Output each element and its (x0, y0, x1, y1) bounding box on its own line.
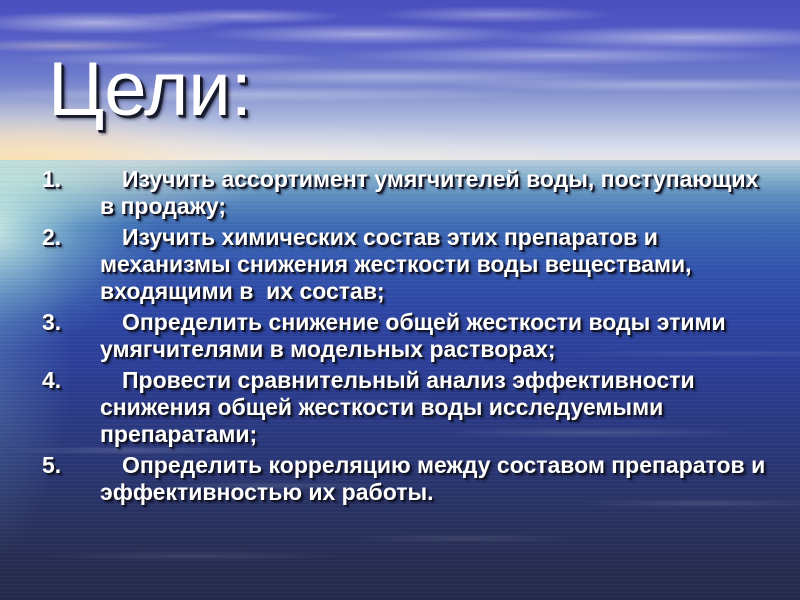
list-item-text: Провести сравнительный анализ эффективно… (100, 367, 778, 448)
list-item-text: Определить снижение общей жесткости воды… (100, 309, 778, 363)
list-item: 3. Определить снижение общей жесткости в… (36, 309, 778, 363)
slide-content: Цели: 1. Изучить ассортимент умягчителей… (0, 0, 800, 600)
presentation-slide: Цели: 1. Изучить ассортимент умягчителей… (0, 0, 800, 600)
list-item: 4. Провести сравнительный анализ эффекти… (36, 367, 778, 448)
list-item-text: Изучить химических состав этих препарато… (100, 224, 778, 305)
list-item-number: 4. (36, 367, 100, 394)
list-item: 2. Изучить химических состав этих препар… (36, 224, 778, 305)
slide-title: Цели: (48, 48, 252, 132)
list-item-number: 2. (36, 224, 100, 251)
list-item-text: Изучить ассортимент умягчителей воды, по… (100, 166, 778, 220)
list-item-number: 3. (36, 309, 100, 336)
list-item-text: Определить корреляцию между составом пре… (100, 452, 778, 506)
list-item-number: 1. (36, 166, 100, 193)
list-item-number: 5. (36, 452, 100, 479)
list-item: 5. Определить корреляцию между составом … (36, 452, 778, 506)
list-item: 1. Изучить ассортимент умягчителей воды,… (36, 166, 778, 220)
goals-list: 1. Изучить ассортимент умягчителей воды,… (36, 166, 778, 510)
